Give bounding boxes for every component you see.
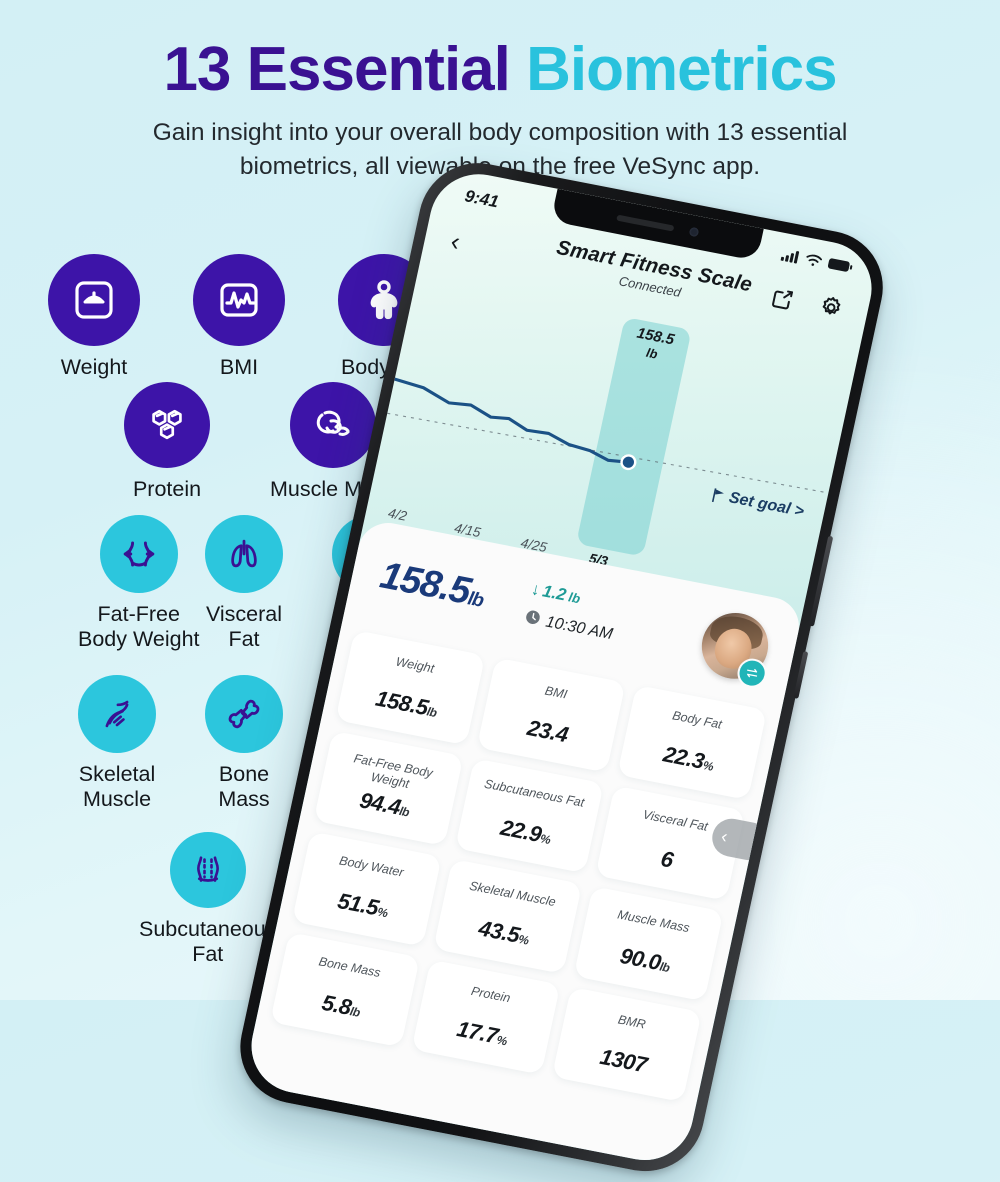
volume-button[interactable] <box>793 651 808 699</box>
biometric-label: Weight <box>61 355 128 380</box>
metric-card[interactable]: Weight 158.5lb <box>335 630 485 745</box>
front-camera <box>688 227 699 238</box>
biometric-label: Skeletal Muscle <box>79 762 156 813</box>
metric-label: Bone Mass <box>289 949 411 986</box>
x-tick: 4/2 <box>387 505 409 523</box>
clock-icon <box>523 609 542 631</box>
metric-label: Muscle Mass <box>593 903 715 940</box>
metric-label: BMR <box>571 1004 693 1041</box>
metric-card[interactable]: Skeletal Muscle 43.5% <box>433 859 583 974</box>
page-title: 13 Essential Biometrics <box>0 0 1000 102</box>
metric-value: 17.7% <box>414 1008 550 1059</box>
biometric-label: Subcutaneous Fat <box>139 917 276 968</box>
biometric-item-fat-free-body-weight: Fat-Free Body Weight <box>78 515 200 653</box>
metric-card[interactable]: BMR 1307 <box>552 987 702 1102</box>
metric-card[interactable]: Muscle Mass 90.0lb <box>574 886 724 1001</box>
metric-card[interactable]: Protein 17.7% <box>411 959 561 1074</box>
biometric-item-protein: Protein <box>124 382 210 502</box>
bone-joint-icon <box>205 675 283 753</box>
metric-card[interactable]: Body Water 51.5% <box>292 831 442 946</box>
metric-label: BMI <box>495 674 617 711</box>
biometric-item-weight: Weight <box>48 254 140 380</box>
biometric-label: Fat-Free Body Weight <box>78 602 200 653</box>
earpiece-speaker <box>616 214 674 231</box>
biometric-item-skeletal-muscle: Skeletal Muscle <box>78 675 156 813</box>
metric-label: Skeletal Muscle <box>452 876 574 913</box>
skin-layer-icon <box>170 832 246 908</box>
metric-value: 5.8lb <box>273 981 409 1032</box>
weight-delta: ↓ 1.2lb <box>529 579 582 608</box>
metric-value: 1307 <box>555 1036 691 1087</box>
metric-value: 90.0lb <box>577 935 713 986</box>
waist-icon <box>100 515 178 593</box>
metric-value: 43.5% <box>436 908 572 959</box>
metric-label: Body Water <box>311 848 433 885</box>
page-header: 13 Essential Biometrics Gain insight int… <box>0 0 1000 183</box>
metric-value: 51.5% <box>295 880 431 931</box>
title-accent: Biometrics <box>526 35 836 104</box>
lungs-icon <box>205 515 283 593</box>
metric-card[interactable]: Body Fat 22.3% <box>617 685 767 800</box>
biometric-label: Visceral Fat <box>206 602 282 653</box>
metric-label: Subcutaneous Fat <box>473 775 595 812</box>
status-time: 9:41 <box>463 186 501 212</box>
metric-value: 22.3% <box>621 734 757 785</box>
metric-cards-grid: Weight 158.5lb BMI 23.4 Body Fat 22.3% <box>270 630 767 1102</box>
metric-value: 22.9% <box>458 807 594 858</box>
metric-label: Protein <box>430 976 552 1013</box>
down-arrow-icon: ↓ <box>529 579 542 600</box>
measurement-time: 10:30 AM <box>523 609 615 646</box>
metric-value: 23.4 <box>480 706 616 757</box>
biometric-label: Protein <box>133 477 201 502</box>
metric-label: Body Fat <box>636 702 758 739</box>
scale-icon <box>48 254 140 346</box>
molecule-icon <box>124 382 210 468</box>
biometric-item-bone-mass: Bone Mass <box>205 675 283 813</box>
biometric-item-visceral-fat: Visceral Fat <box>205 515 283 653</box>
metric-value: 158.5lb <box>339 679 475 730</box>
phone-mockup: 9:41 ‹ <box>408 188 1000 1048</box>
flexed-arm-icon <box>290 382 376 468</box>
current-weight: 158.5lb <box>376 554 488 616</box>
metric-card[interactable]: BMI 23.4 <box>476 657 626 772</box>
chart-pulse-icon <box>193 254 285 346</box>
metric-card[interactable]: Bone Mass 5.8lb <box>270 932 420 1047</box>
biometric-item-bmi: BMI <box>193 254 285 380</box>
muscle-fiber-icon <box>78 675 156 753</box>
wifi-icon <box>803 252 823 273</box>
biometric-item-subcutaneous-fat: Subcutaneous Fat <box>139 832 276 968</box>
metric-label: Weight <box>354 647 476 684</box>
battery-icon <box>826 257 854 279</box>
signal-icon <box>779 248 800 269</box>
subtitle-line-1: Gain insight into your overall body comp… <box>130 116 870 149</box>
metric-card[interactable]: Fat-Free Body Weight 94.4lb <box>314 731 464 846</box>
metric-card[interactable]: Subcutaneous Fat 22.9% <box>455 758 605 873</box>
biometric-label: BMI <box>220 355 258 380</box>
title-primary: 13 Essential <box>163 35 526 104</box>
biometric-label: Bone Mass <box>218 762 269 813</box>
